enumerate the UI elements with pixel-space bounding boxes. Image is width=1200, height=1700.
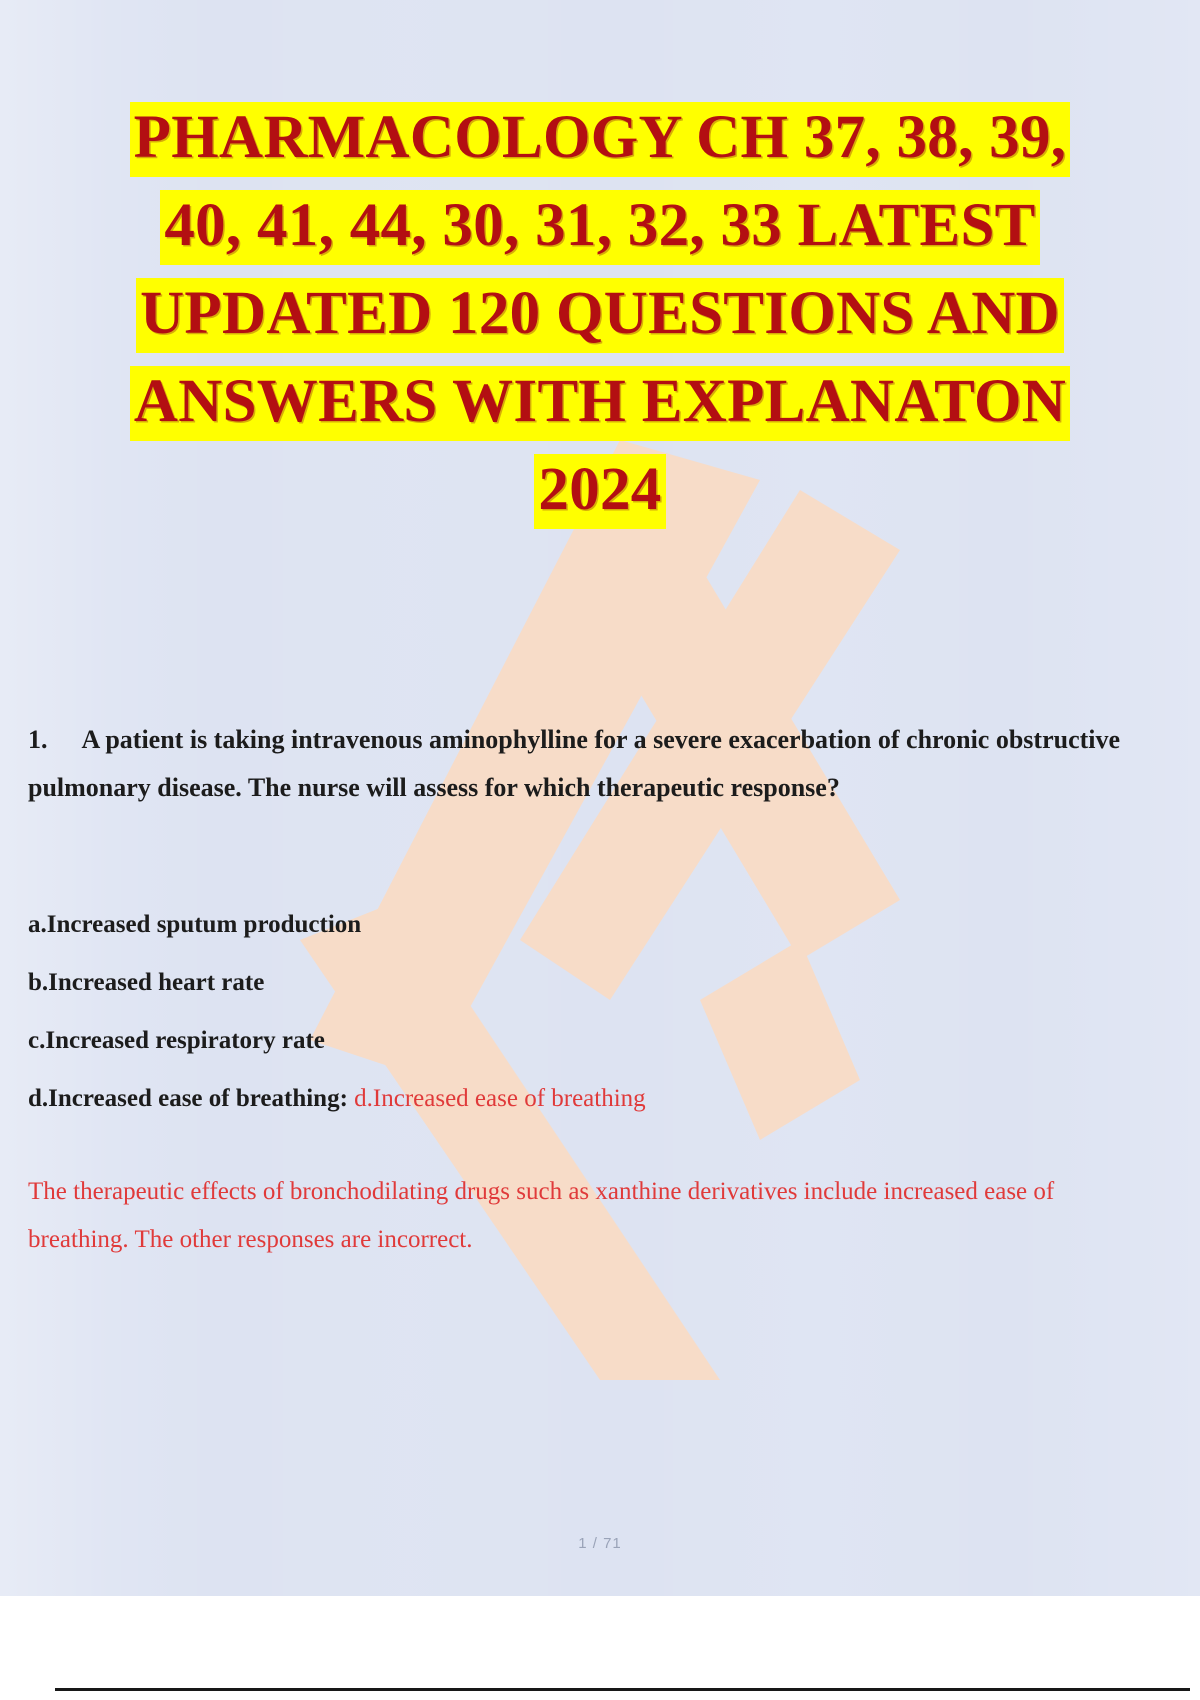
title-text-2: 40, 41, 44, 30, 31, 32, 33 LATEST	[160, 190, 1039, 265]
option-c[interactable]: c.Increased respiratory rate	[28, 1028, 1128, 1053]
option-b[interactable]: b.Increased heart rate	[28, 970, 1128, 995]
document-page: PHARMACOLOGY CH 37, 38, 39, 40, 41, 44, …	[0, 0, 1200, 1596]
answer-options-list: a.Increased sputum production b.Increase…	[28, 912, 1128, 1111]
question-text: 1.A patient is taking intravenous aminop…	[28, 716, 1174, 812]
title-text-3: UPDATED 120 QUESTIONS AND	[136, 278, 1064, 353]
title-line-4: ANSWERS WITH EXPLANATON	[0, 369, 1200, 435]
correct-answer-text: d.Increased ease of breathing	[354, 1085, 646, 1112]
title-line-1: PHARMACOLOGY CH 37, 38, 39,	[0, 105, 1200, 171]
question-number: 1.	[28, 725, 48, 754]
page-number-footer: 1 / 71	[0, 1535, 1200, 1552]
title-text-1: PHARMACOLOGY CH 37, 38, 39,	[130, 102, 1071, 177]
question-body: A patient is taking intravenous aminophy…	[28, 725, 1120, 802]
answer-explanation: The therapeutic effects of bronchodilati…	[28, 1168, 1088, 1263]
title-line-5: 2024	[0, 457, 1200, 523]
option-a[interactable]: a.Increased sputum production	[28, 912, 1128, 937]
title-line-2: 40, 41, 44, 30, 31, 32, 33 LATEST	[0, 193, 1200, 259]
option-d-label: d.Increased ease of breathing:	[28, 1085, 348, 1112]
page-gutter	[0, 1596, 1200, 1700]
title-line-3: UPDATED 120 QUESTIONS AND	[0, 281, 1200, 347]
title-text-4: ANSWERS WITH EXPLANATON	[130, 366, 1070, 441]
bottom-divider	[55, 1688, 1190, 1691]
title-text-5: 2024	[534, 454, 665, 529]
document-title: PHARMACOLOGY CH 37, 38, 39, 40, 41, 44, …	[0, 105, 1200, 522]
option-d[interactable]: d.Increased ease of breathing: d.Increas…	[28, 1086, 1128, 1111]
